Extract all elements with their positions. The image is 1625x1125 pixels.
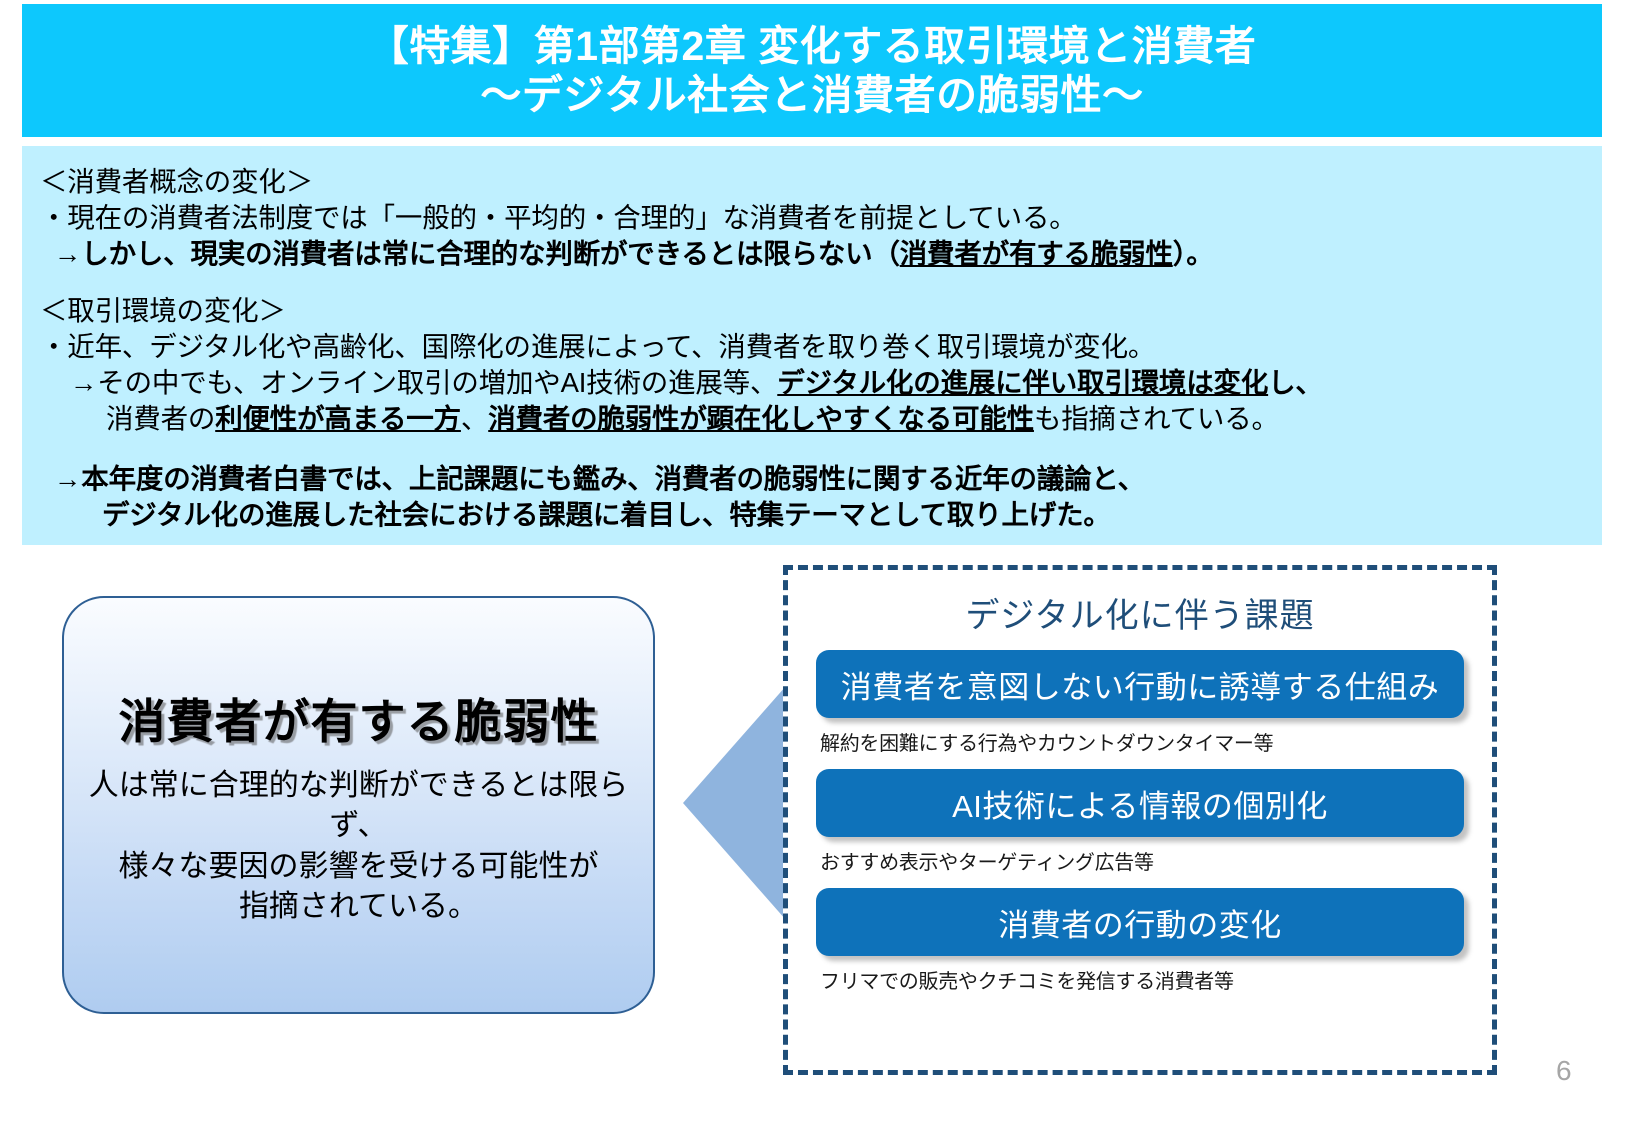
issue-pill-3[interactable]: 消費者の行動の変化: [816, 888, 1464, 956]
section1-heading: ＜消費者概念の変化＞: [40, 164, 1576, 200]
issue-caption-1: 解約を困難にする行為やカウントダウンタイマー等: [820, 727, 1464, 756]
issue-caption-2: おすすめ表示やターゲティング広告等: [820, 846, 1464, 875]
section2-arrow-pre: →その中でも、オンライン取引の増加やAI技術の進展等、: [70, 367, 777, 398]
section2-arrow-underline: デジタル化の進展に伴い取引環境は変化: [777, 367, 1268, 398]
section2-bullet: ・近年、デジタル化や高齢化、国際化の進展によって、消費者を取り巻く取引環境が変化…: [40, 329, 1576, 365]
vulnerability-desc-line-2: 様々な要因の影響を受ける可能性が: [64, 847, 653, 887]
issue-block-1: 消費者を意図しない行動に誘導する仕組み 解約を困難にする行為やカウントダウンタイ…: [816, 650, 1464, 756]
conclusion-line-2: デジタル化の進展した社会における課題に着目し、特集テーマとして取り上げた。: [40, 497, 1576, 533]
section1-arrow-line: →しかし、現実の消費者は常に合理的な判断ができるとは限らない（消費者が有する脆弱…: [40, 236, 1576, 272]
vulnerability-box-title: 消費者が有する脆弱性: [119, 683, 599, 752]
vulnerability-box: 消費者が有する脆弱性 人は常に合理的な判断ができるとは限らず、 様々な要因の影響…: [62, 596, 655, 1014]
page-number: 6: [1556, 1055, 1572, 1087]
section2-line3-pre: 消費者の: [106, 403, 215, 434]
section2-line3: 消費者の利便性が高まる一方、消費者の脆弱性が顕在化しやすくなる可能性も指摘されて…: [40, 401, 1576, 437]
issue-caption-3: フリマでの販売やクチコミを発信する消費者等: [820, 965, 1464, 994]
issue-pill-1[interactable]: 消費者を意図しない行動に誘導する仕組み: [816, 650, 1464, 718]
section2-line3-underline-1: 利便性が高まる一方: [215, 403, 461, 434]
section1-arrow-underline: 消費者が有する脆弱性: [900, 238, 1173, 269]
vulnerability-box-description: 人は常に合理的な判断ができるとは限らず、 様々な要因の影響を受ける可能性が 指摘…: [64, 766, 653, 927]
section2-arrow-post: し、: [1268, 367, 1323, 398]
section1-arrow-pre: →しかし、現実の消費者は常に合理的な判断ができるとは限らない（: [54, 238, 900, 269]
title-line-2: ～デジタル社会と消費者の脆弱性～: [480, 71, 1143, 119]
section2-arrow-line: →その中でも、オンライン取引の増加やAI技術の進展等、デジタル化の進展に伴い取引…: [40, 365, 1576, 401]
left-pointing-arrow-icon: [683, 678, 793, 928]
section-spacer-2: [40, 437, 1576, 461]
conclusion-line-1: →本年度の消費者白書では、上記課題にも鑑み、消費者の脆弱性に関する近年の議論と、: [40, 461, 1576, 497]
slide-title-bar: 【特集】第1部第2章 変化する取引環境と消費者 ～デジタル社会と消費者の脆弱性～: [22, 4, 1602, 137]
section-spacer-1: [40, 272, 1576, 293]
issue-block-2: AI技術による情報の個別化 おすすめ表示やターゲティング広告等: [816, 769, 1464, 875]
vulnerability-desc-line-1: 人は常に合理的な判断ができるとは限らず、: [64, 766, 653, 846]
section2-line3-underline-2: 消費者の脆弱性が顕在化しやすくなる可能性: [488, 403, 1034, 434]
issue-block-3: 消費者の行動の変化 フリマでの販売やクチコミを発信する消費者等: [816, 888, 1464, 994]
issue-pill-2[interactable]: AI技術による情報の個別化: [816, 769, 1464, 837]
body-text-panel: ＜消費者概念の変化＞ ・現在の消費者法制度では「一般的・平均的・合理的」な消費者…: [22, 146, 1602, 545]
title-line-1: 【特集】第1部第2章 変化する取引環境と消費者: [368, 22, 1257, 70]
digital-issues-panel: デジタル化に伴う課題 消費者を意図しない行動に誘導する仕組み 解約を困難にする行…: [783, 565, 1497, 1075]
section1-bullet: ・現在の消費者法制度では「一般的・平均的・合理的」な消費者を前提としている。: [40, 200, 1576, 236]
digital-panel-heading: デジタル化に伴う課題: [788, 588, 1492, 637]
section2-line3-mid: 、: [461, 403, 488, 434]
section2-heading: ＜取引環境の変化＞: [40, 293, 1576, 329]
section2-line3-post: も指摘されている。: [1034, 403, 1279, 434]
section1-arrow-post: ）。: [1173, 238, 1214, 269]
vulnerability-desc-line-3: 指摘されている。: [64, 887, 653, 927]
